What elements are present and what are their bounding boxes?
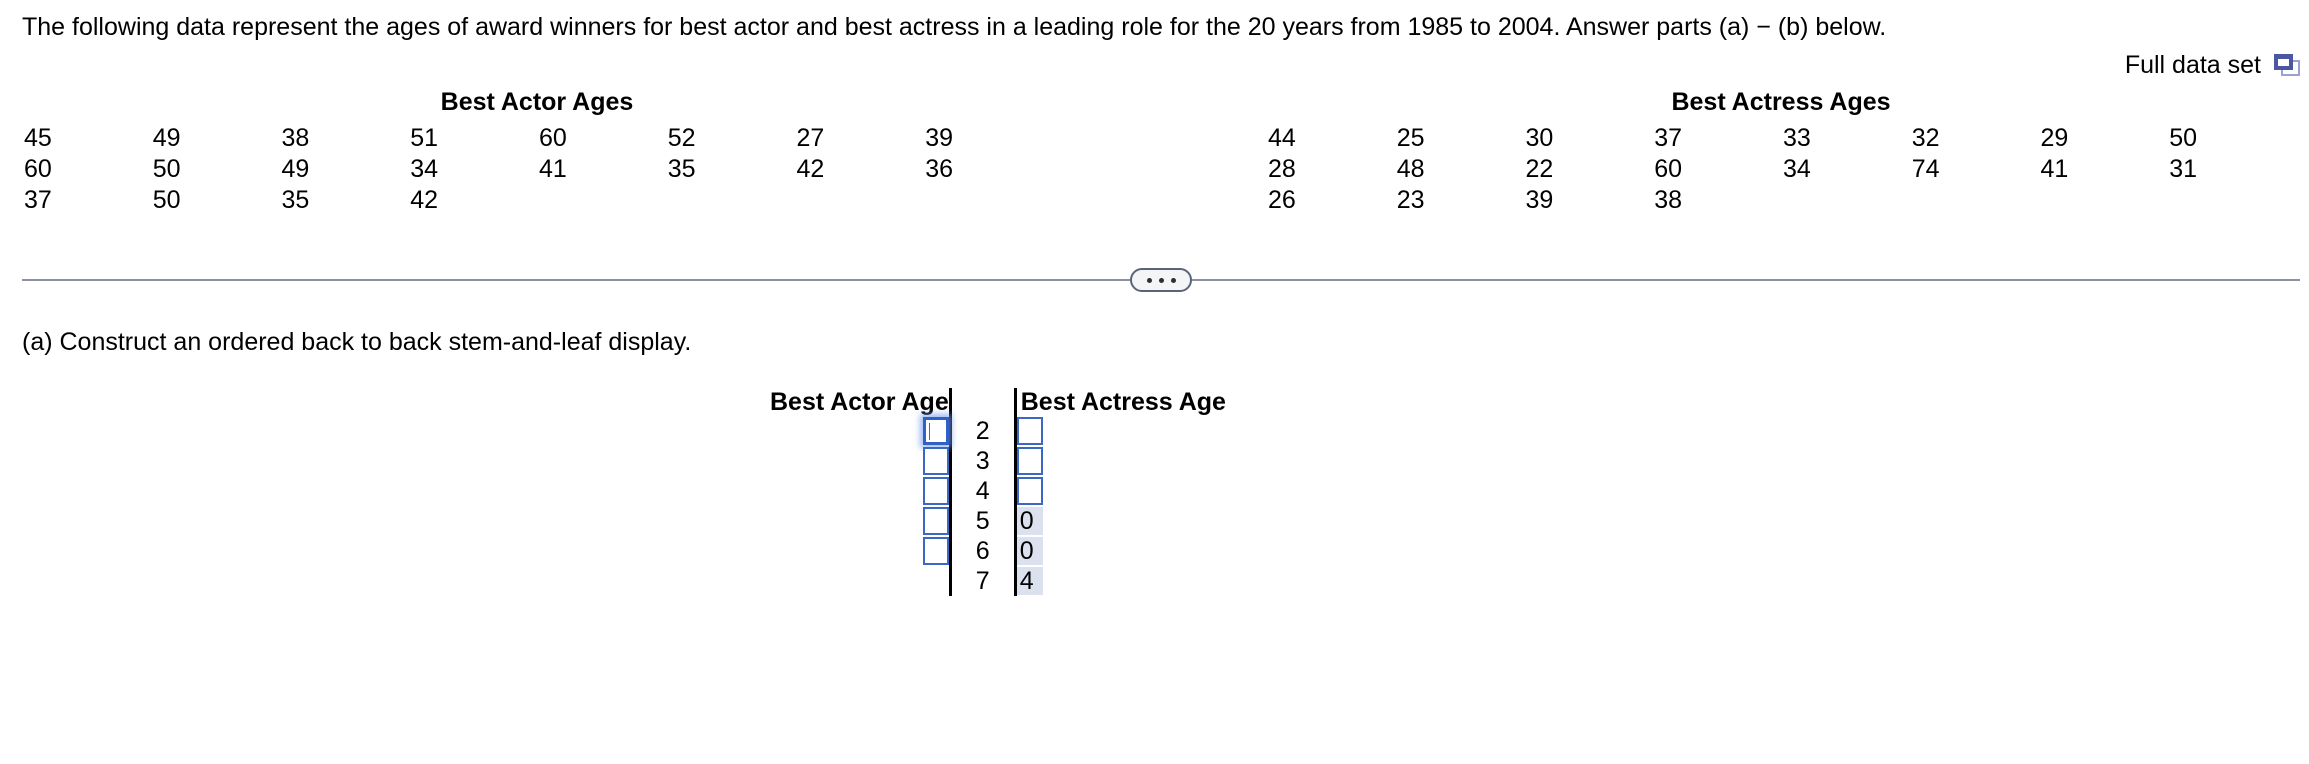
- actor-leaf-input-stem-3[interactable]: [923, 447, 949, 475]
- actor-age-cell: 60: [22, 154, 151, 185]
- divider-expand-button[interactable]: [1130, 268, 1192, 292]
- stem-value: 2: [976, 416, 990, 446]
- actor-leaf-row: [923, 476, 949, 506]
- actress-leaf-row: [1017, 476, 1043, 506]
- actor-age-cell: 42: [795, 154, 924, 185]
- actor-age-cell: 60: [537, 123, 666, 154]
- actor-leaf-input-stem-4[interactable]: [923, 477, 949, 505]
- part-a-question: (a) Construct an ordered back to back st…: [22, 327, 691, 357]
- actor-leaf-row: [923, 536, 949, 566]
- actress-age-cell: 25: [1395, 123, 1524, 154]
- stem-value: 6: [976, 536, 990, 566]
- actor-age-cell: 36: [923, 154, 1052, 185]
- actress-age-cell: 44: [1266, 123, 1395, 154]
- actress-age-cell: 60: [1652, 154, 1781, 185]
- actress-age-cell: 22: [1524, 154, 1653, 185]
- actress-age-cell: [1781, 185, 1910, 216]
- stem-value: 7: [976, 566, 990, 596]
- actress-age-cell: 23: [1395, 185, 1524, 216]
- actor-leaf-empty-stem-7: [923, 567, 949, 595]
- actress-leaf-input-stem-2[interactable]: [1017, 417, 1043, 445]
- stem-value: 3: [976, 446, 990, 476]
- section-divider: [22, 268, 2300, 292]
- actor-age-cell: 50: [151, 154, 280, 185]
- actress-age-cell: 30: [1524, 123, 1653, 154]
- stem-value: 5: [976, 506, 990, 536]
- table-row: 45 49 38 51 60 52 27 39: [22, 123, 1052, 154]
- actor-age-cell: 35: [280, 185, 409, 216]
- table-row: 44 25 30 37 33 32 29 50: [1266, 123, 2296, 154]
- actor-age-cell: 37: [22, 185, 151, 216]
- table-row: 28 48 22 60 34 74 41 31: [1266, 154, 2296, 185]
- best-actress-ages-title: Best Actress Ages: [1266, 88, 2296, 116]
- actor-leaf-input-stem-6[interactable]: [923, 537, 949, 565]
- actor-age-cell: 49: [151, 123, 280, 154]
- actress-leaf-value-stem-7: 4: [1017, 567, 1043, 595]
- actor-leaf-row: [923, 446, 949, 476]
- actor-age-cell: 35: [666, 154, 795, 185]
- actor-column-header: Best Actor Age: [770, 388, 949, 416]
- actor-age-cell: 38: [280, 123, 409, 154]
- actress-leaf-input-stem-4[interactable]: [1017, 477, 1043, 505]
- actor-leaf-row: [923, 506, 949, 536]
- actress-leaf-row: 4: [1017, 566, 1043, 596]
- actor-age-cell: 45: [22, 123, 151, 154]
- table-row: 37 50 35 42: [22, 185, 1052, 216]
- actor-leaf-row: [923, 416, 949, 446]
- actor-age-cell: 34: [408, 154, 537, 185]
- actor-age-cell: 52: [666, 123, 795, 154]
- actress-age-cell: 31: [2167, 154, 2296, 185]
- actor-age-cell: [795, 185, 924, 216]
- actor-age-cell: 49: [280, 154, 409, 185]
- actor-age-cell: 41: [537, 154, 666, 185]
- actor-leaf-row: [923, 566, 949, 596]
- actress-leaf-value-stem-6: 0: [1017, 537, 1043, 565]
- actress-age-cell: 41: [2039, 154, 2168, 185]
- actress-age-cell: 32: [1910, 123, 2039, 154]
- dot-icon: [1171, 278, 1176, 283]
- actress-column-header: Best Actress Age: [1017, 388, 1226, 416]
- actor-age-cell: [923, 185, 1052, 216]
- actress-age-cell: [2167, 185, 2296, 216]
- actor-age-cell: [666, 185, 795, 216]
- best-actress-ages-table: Best Actress Ages 44 25 30 37 33 32 29 5…: [1266, 88, 2296, 216]
- actress-age-cell: 28: [1266, 154, 1395, 185]
- best-actor-ages-title: Best Actor Ages: [22, 88, 1052, 116]
- table-row: 26 23 39 38: [1266, 185, 2296, 216]
- problem-statement: The following data represent the ages of…: [22, 12, 1886, 42]
- actor-leaf-column: Best Actor Age: [770, 388, 949, 596]
- stem-value: 4: [976, 476, 990, 506]
- actress-age-cell: [1910, 185, 2039, 216]
- actress-age-cell: 34: [1781, 154, 1910, 185]
- actor-leaf-input-stem-2[interactable]: [923, 417, 949, 445]
- stem-and-leaf-display: Best Actor Age: [770, 388, 1226, 596]
- actress-leaf-column: Best Actress Age 0 0 4: [1017, 388, 1226, 596]
- actor-age-cell: 27: [795, 123, 924, 154]
- actress-age-cell: 33: [1781, 123, 1910, 154]
- actor-age-cell: 39: [923, 123, 1052, 154]
- actress-age-cell: 48: [1395, 154, 1524, 185]
- best-actor-ages-table: Best Actor Ages 45 49 38 51 60 52 27 39 …: [22, 88, 1052, 216]
- actor-age-cell: 51: [408, 123, 537, 154]
- actress-age-cell: [2039, 185, 2168, 216]
- actor-age-cell: 50: [151, 185, 280, 216]
- stem-column: 2 3 4 5 6 7: [952, 388, 1014, 596]
- dot-icon: [1147, 278, 1152, 283]
- actress-age-cell: 38: [1652, 185, 1781, 216]
- table-row: 60 50 49 34 41 35 42 36: [22, 154, 1052, 185]
- actress-leaf-input-stem-3[interactable]: [1017, 447, 1043, 475]
- actress-leaf-row: 0: [1017, 506, 1043, 536]
- actress-leaf-row: 0: [1017, 536, 1043, 566]
- actress-age-cell: 39: [1524, 185, 1653, 216]
- full-data-set-label: Full data set: [2125, 50, 2261, 80]
- actor-age-cell: [537, 185, 666, 216]
- actor-leaf-input-stem-5[interactable]: [923, 507, 949, 535]
- actress-leaf-row: [1017, 446, 1043, 476]
- actress-age-cell: 74: [1910, 154, 2039, 185]
- popout-window-icon[interactable]: [2274, 54, 2300, 76]
- actor-age-cell: 42: [408, 185, 537, 216]
- actress-age-cell: 29: [2039, 123, 2168, 154]
- actress-age-cell: 50: [2167, 123, 2296, 154]
- dot-icon: [1159, 278, 1164, 283]
- actress-leaf-row: [1017, 416, 1043, 446]
- actress-age-cell: 37: [1652, 123, 1781, 154]
- actress-leaf-value-stem-5: 0: [1017, 507, 1043, 535]
- full-data-set-link[interactable]: Full data set: [2125, 50, 2300, 80]
- actress-age-cell: 26: [1266, 185, 1395, 216]
